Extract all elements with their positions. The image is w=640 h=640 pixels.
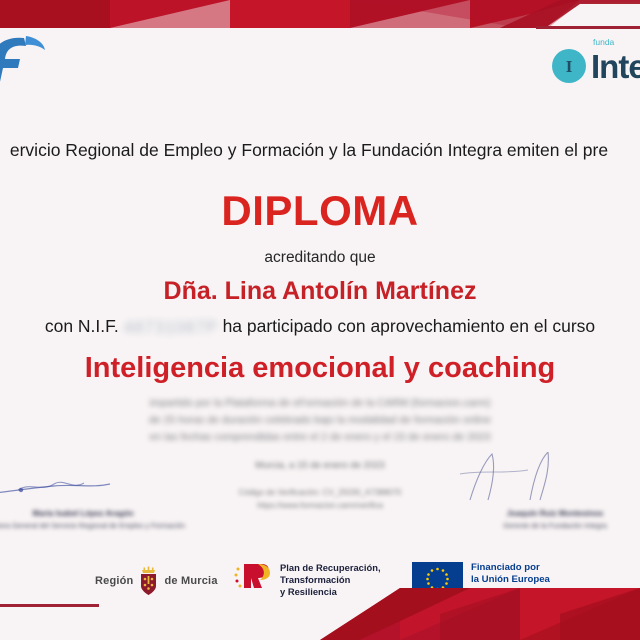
course-detail-line: en las fechas comprendidas entre el 2 de… [0, 429, 640, 446]
course-detail-line: impartido por la Plataforma de eFormació… [0, 395, 640, 412]
signature-role: Gerente de la Fundación Integra [430, 521, 640, 530]
nif-value-redacted: 48731087P [124, 317, 218, 338]
murcia-suffix-label: de Murcia [164, 575, 217, 587]
nif-suffix-label: ha participado con aprovechamiento en el… [223, 316, 596, 336]
course-details: impartido por la Plataforma de eFormació… [0, 395, 640, 446]
nif-line: con N.I.F. 48731087P ha participado con … [0, 316, 640, 338]
plan-recuperacion-logo: Plan de Recuperación, Transformación y R… [232, 560, 381, 600]
eu-stars [412, 562, 463, 596]
region-de-murcia-logo: Región de Murcia [95, 566, 218, 596]
signature-role: Directora General del Servicio Regional … [0, 521, 208, 530]
signature-block-left: María Isabel López Aragón Directora Gene… [0, 452, 208, 530]
diploma-certificate: ACIÓN I funda Inte ervicio Regional de E… [0, 0, 640, 640]
course-title: Inteligencia emocional y coaching [0, 352, 640, 385]
recipient-name: Dña. Lina Antolín Martínez [0, 277, 640, 306]
sef-logo-mark [0, 32, 61, 104]
acreditando-label: acreditando que [0, 249, 640, 267]
integra-mark-letter: I [566, 58, 573, 75]
signature-name: Joaquín Ruiz Montesinos [430, 509, 640, 518]
murcia-prefix-label: Región [95, 575, 133, 587]
signature-block-right: Joaquín Ruiz Montesinos Gerente de la Fu… [430, 452, 640, 530]
integra-sub-label: funda [593, 37, 614, 47]
murcia-coat-of-arms [138, 566, 159, 596]
nif-prefix-label: con N.I.F. [45, 316, 119, 336]
signature-scribble-icon [430, 452, 640, 504]
integra-name: Inte [591, 50, 640, 83]
course-detail-line: de 25 horas de duración celebrado bajo l… [0, 412, 640, 429]
sef-logo [0, 32, 61, 104]
integra-circle-icon: I [552, 49, 586, 83]
eu-flag-icon [412, 562, 463, 596]
eu-line-3: NextGenerationEU [471, 587, 550, 596]
prtr-line-2: Transformación [280, 574, 381, 586]
murcia-shield-icon [138, 566, 159, 596]
bottom-accent-rule [0, 604, 99, 607]
prtr-text-block: Plan de Recuperación, Transformación y R… [280, 562, 381, 598]
eu-text-block: Financiado por la Unión Europea NextGene… [471, 562, 550, 596]
integra-wordmark: funda Inte [591, 50, 640, 83]
signature-scribble-icon [0, 452, 208, 504]
eu-line-2: la Unión Europea [471, 574, 550, 586]
eu-line-1: Financiado por [471, 562, 550, 574]
top-accent-rule [536, 26, 640, 29]
footer-logos: Región de Murcia [0, 556, 640, 604]
page-title: DIPLOMA [0, 187, 640, 235]
intro-line: ervicio Regional de Empleo y Formación y… [0, 140, 640, 161]
prtr-line-1: Plan de Recuperación, [280, 562, 381, 574]
prtr-mark-icon [232, 560, 274, 600]
signature-name: María Isabel López Aragón [0, 509, 208, 518]
prtr-line-3: y Resiliencia [280, 586, 381, 598]
fundacion-integra-logo: I funda Inte [552, 38, 640, 94]
top-banner-facets [0, 0, 640, 28]
european-union-funding-logo: Financiado por la Unión Europea NextGene… [412, 562, 550, 596]
top-decorative-banner [0, 0, 640, 28]
